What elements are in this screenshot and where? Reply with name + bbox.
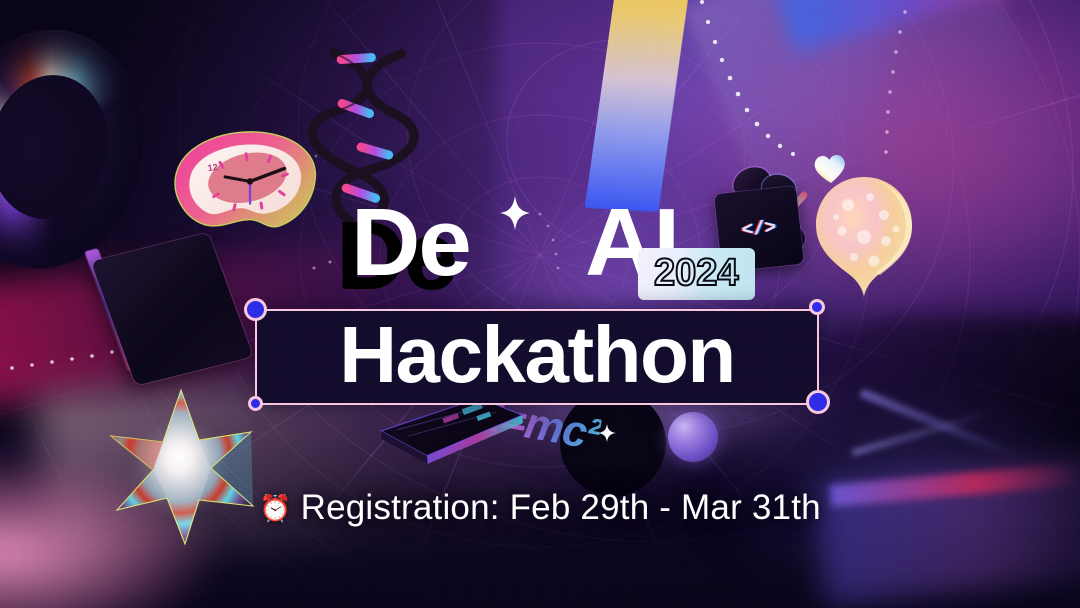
hackathon-poster: 12: [0, 0, 1080, 608]
poster-content: De AI 2024 Hackathon ⏰ Registration: Feb…: [0, 0, 1080, 608]
headline-box[interactable]: Hackathon: [255, 309, 819, 405]
selection-handle-top-right[interactable]: [809, 299, 825, 315]
logo-letter-d: De: [351, 189, 470, 296]
alarm-clock-icon: ⏰: [259, 490, 291, 526]
logo-de: De: [351, 188, 470, 298]
registration-line: ⏰ Registration: Feb 29th - Mar 31th: [0, 487, 1080, 529]
selection-handle-top-left[interactable]: [244, 298, 267, 321]
selection-handle-bottom-right[interactable]: [806, 390, 830, 414]
headline-text: Hackathon: [339, 313, 734, 397]
year-badge: 2024: [638, 248, 755, 300]
selection-handle-bottom-left[interactable]: [248, 396, 263, 411]
registration-text: Registration: Feb 29th - Mar 31th: [301, 487, 821, 529]
